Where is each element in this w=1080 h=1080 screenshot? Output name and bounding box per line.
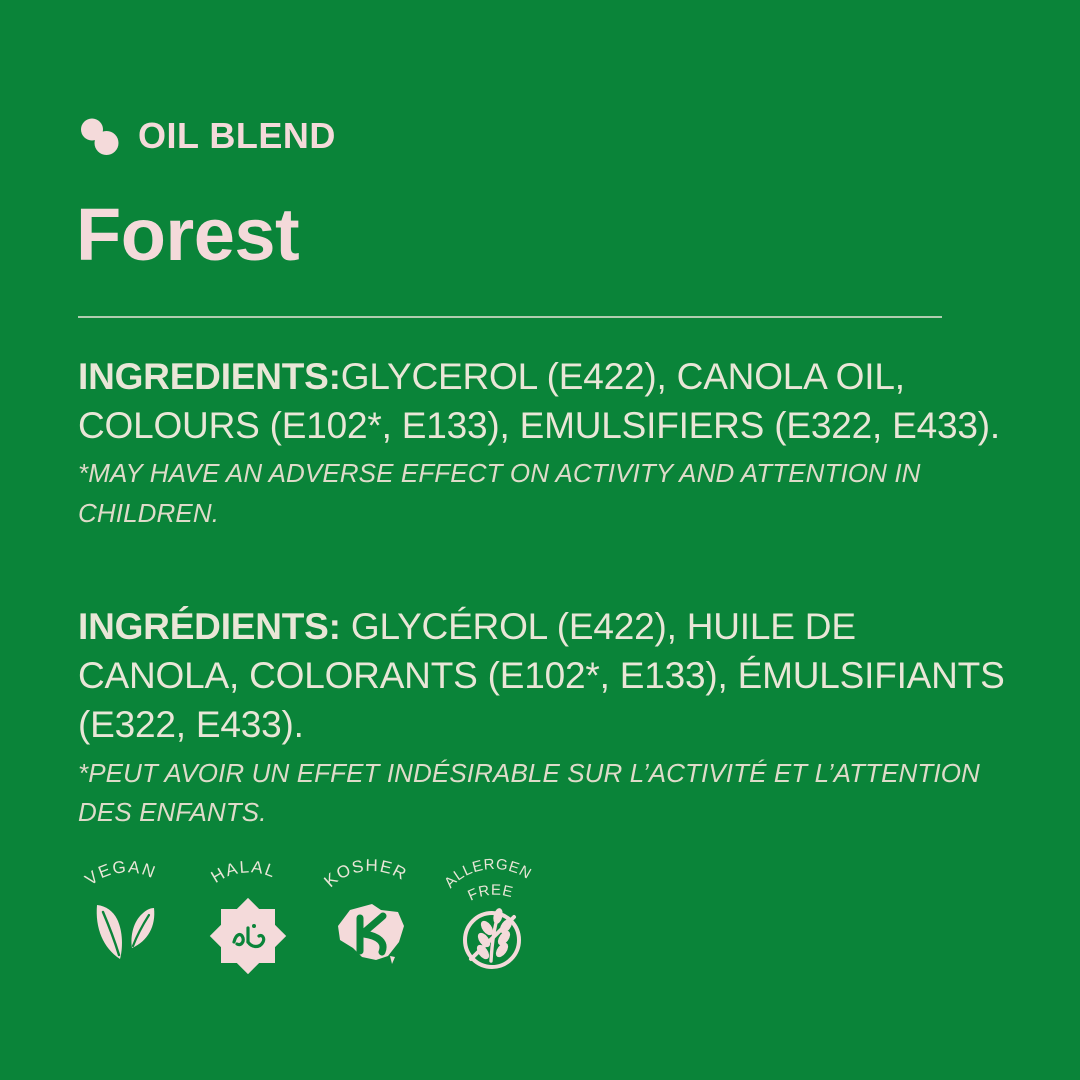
svg-text:HALAL: HALAL	[208, 857, 279, 887]
badge-kosher: KOSHER	[320, 856, 420, 974]
svg-text:FREE: FREE	[465, 882, 514, 905]
badge-label-vegan: VEGAN	[82, 857, 159, 889]
ingredients-note-fr: *PEUT AVOIR UN EFFET INDÉSIRABLE SUR L’A…	[78, 754, 1008, 833]
svg-text:KOSHER: KOSHER	[320, 856, 410, 891]
category-label: OIL BLEND	[138, 118, 336, 154]
page-title: Forest	[76, 198, 299, 272]
ingredients-lead-fr: INGRÉDIENTS:	[78, 606, 341, 647]
badge-halal: HALAL	[198, 856, 298, 974]
halal-star-icon	[210, 898, 286, 974]
certification-badges: VEGAN HALAL	[76, 856, 542, 974]
vegan-leaf-icon	[97, 905, 155, 959]
oil-droplets-icon	[78, 115, 120, 157]
ingredients-note-en: *MAY HAVE AN ADVERSE EFFECT ON ACTIVITY …	[78, 454, 1008, 533]
ingredients-paragraph-en: INGREDIENTS:GLYCEROL (E422), CANOLA OIL,…	[78, 352, 1008, 450]
category-row: OIL BLEND	[78, 112, 336, 160]
badge-allergen-free: ALLERGEN FREE	[442, 856, 542, 974]
ingredients-block-fr: INGRÉDIENTS: GLYCÉROL (E422), HUILE DE C…	[78, 602, 1008, 833]
ingredients-block-en: INGREDIENTS:GLYCEROL (E422), CANOLA OIL,…	[78, 352, 1008, 533]
svg-text:VEGAN: VEGAN	[82, 857, 159, 889]
divider	[78, 316, 942, 318]
kosher-k-icon	[338, 904, 404, 964]
allergen-free-wheat-icon	[465, 907, 519, 967]
badge-label-allergen-free: FREE	[465, 882, 514, 905]
badge-label-halal: HALAL	[208, 857, 279, 887]
badge-vegan: VEGAN	[76, 856, 176, 974]
ingredients-paragraph-fr: INGRÉDIENTS: GLYCÉROL (E422), HUILE DE C…	[78, 602, 1008, 750]
ingredients-lead-en: INGREDIENTS:	[78, 356, 341, 397]
badge-label-kosher: KOSHER	[320, 856, 410, 891]
product-label-card: OIL BLEND Forest INGREDIENTS:GLYCEROL (E…	[0, 0, 1080, 1080]
